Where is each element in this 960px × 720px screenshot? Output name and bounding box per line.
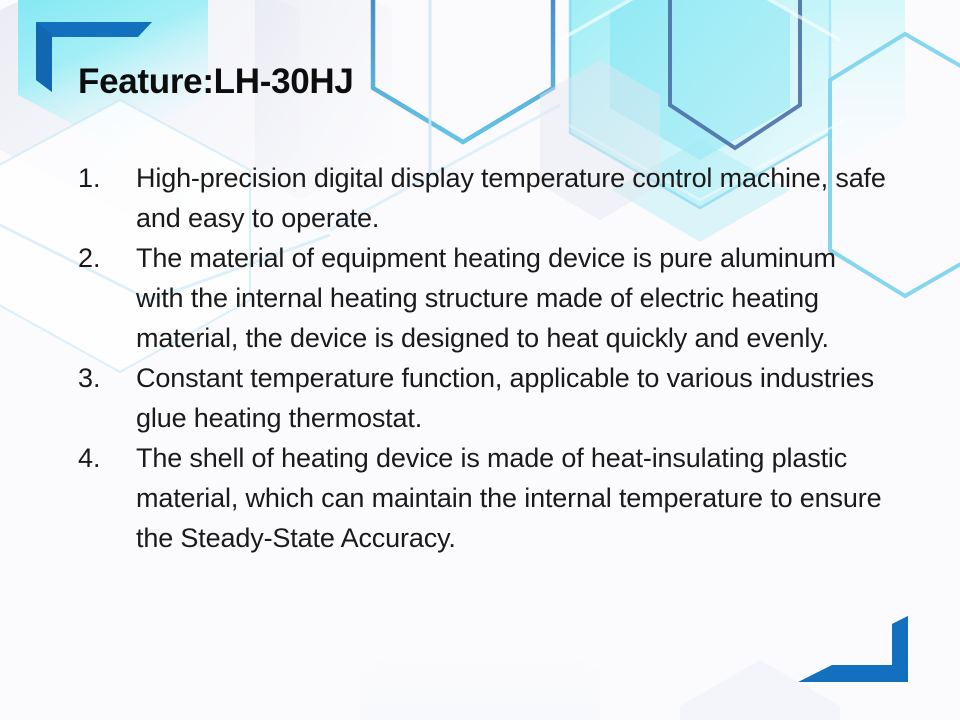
list-item: 3. Constant temperature function, applic… <box>78 358 888 438</box>
feature-list: 1. High-precision digital display temper… <box>78 158 888 558</box>
list-item-number: 3. <box>78 358 136 398</box>
list-item-text: Constant temperature function, applicabl… <box>136 358 888 438</box>
list-item: 2. The material of equipment heating dev… <box>78 238 888 358</box>
list-item-number: 4. <box>78 438 136 478</box>
list-item-text: The shell of heating device is made of h… <box>136 438 888 558</box>
slide-canvas: Feature:LH-30HJ 1. High-precision digita… <box>0 0 960 720</box>
list-item-number: 1. <box>78 158 136 198</box>
list-item: 4. The shell of heating device is made o… <box>78 438 888 558</box>
bottom-right-bracket-decoration <box>760 590 960 720</box>
list-item-text: High-precision digital display temperatu… <box>136 158 888 238</box>
page-title: Feature:LH-30HJ <box>78 60 354 104</box>
list-item: 1. High-precision digital display temper… <box>78 158 888 238</box>
list-item-text: The material of equipment heating device… <box>136 238 888 358</box>
list-item-number: 2. <box>78 238 136 278</box>
